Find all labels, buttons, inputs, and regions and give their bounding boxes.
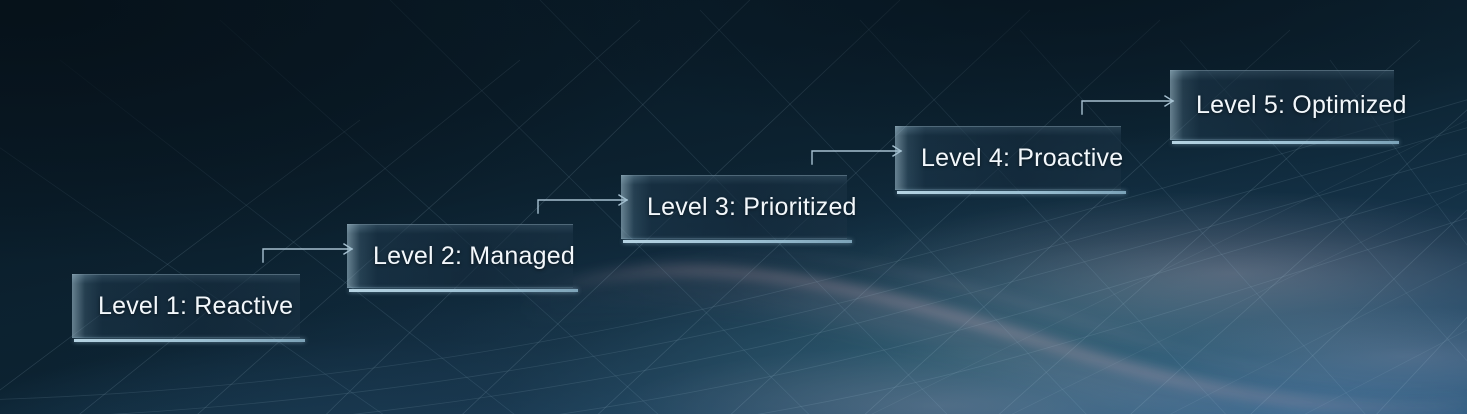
node-label: Level 1: Reactive xyxy=(72,292,293,321)
node-label: Level 2: Managed xyxy=(347,242,575,271)
node-level-4[interactable]: Level 4: Proactive xyxy=(895,126,1121,190)
node-level-2[interactable]: Level 2: Managed xyxy=(347,224,573,288)
node-label: Level 4: Proactive xyxy=(895,144,1123,173)
node-level-3[interactable]: Level 3: Prioritized xyxy=(621,175,847,239)
node-underline-level-1 xyxy=(74,339,305,342)
node-label: Level 5: Optimized xyxy=(1170,91,1407,120)
node-underline-level-2 xyxy=(349,289,578,292)
node-level-5[interactable]: Level 5: Optimized xyxy=(1170,70,1394,140)
node-label: Level 3: Prioritized xyxy=(621,193,857,222)
node-underline-level-4 xyxy=(897,191,1126,194)
diagram-canvas: Level 1: ReactiveLevel 2: ManagedLevel 3… xyxy=(0,0,1467,414)
node-underline-level-3 xyxy=(623,240,852,243)
node-underline-level-5 xyxy=(1172,141,1399,144)
node-level-1[interactable]: Level 1: Reactive xyxy=(72,274,300,338)
